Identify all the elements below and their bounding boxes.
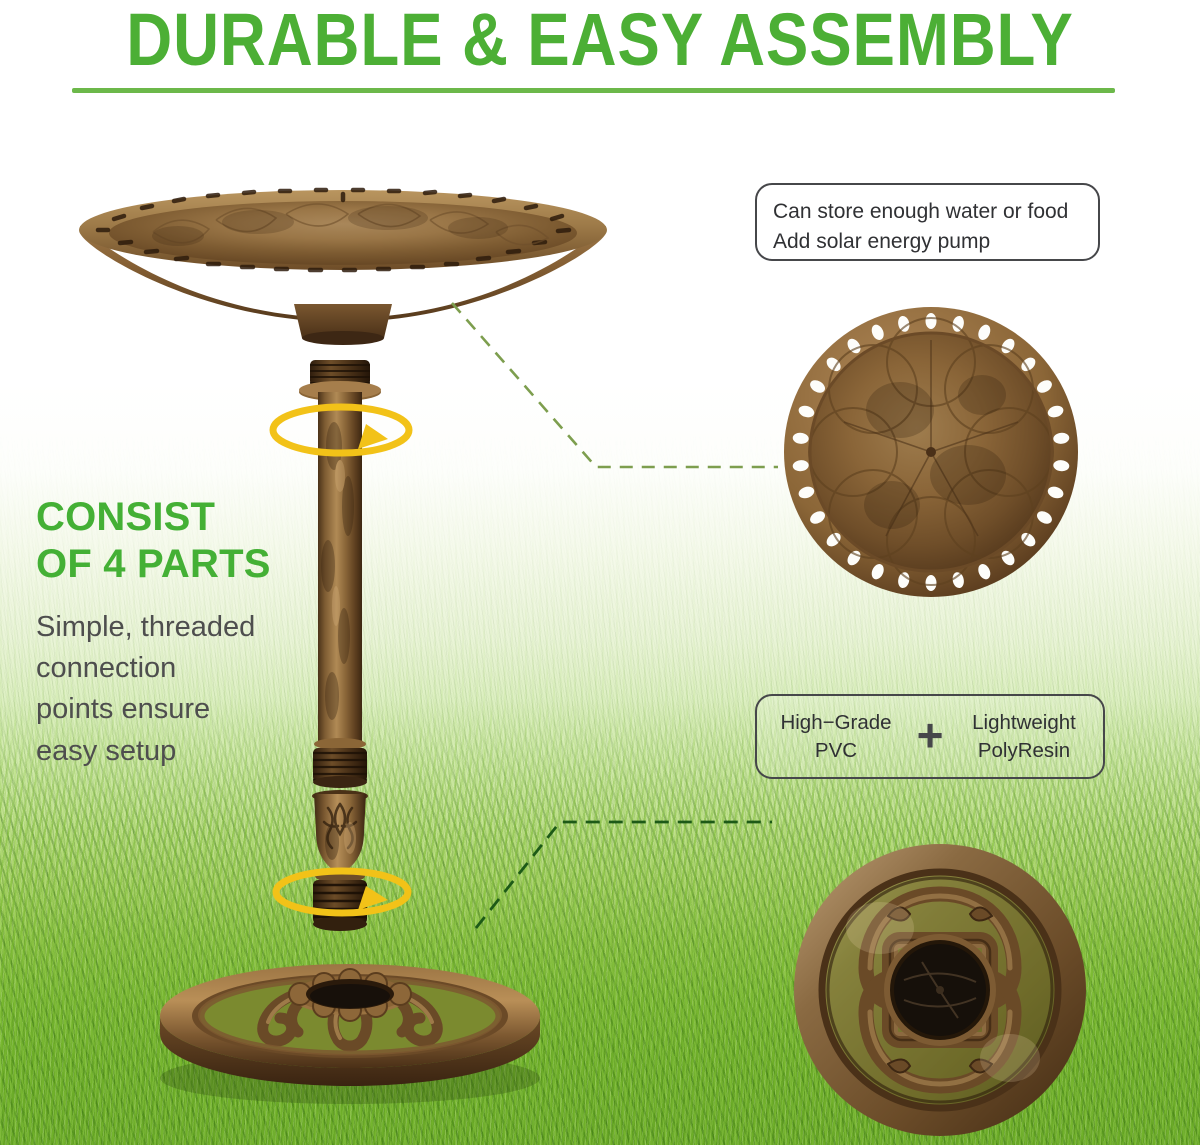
consist-body-line3: points ensure — [36, 689, 326, 730]
callout-materials: High−Grade PVC + Lightweight PolyResin — [755, 694, 1105, 779]
consist-heading: CONSIST OF 4 PARTS — [36, 494, 366, 588]
title-divider — [72, 88, 1115, 93]
pedestal-base-perspective — [152, 938, 548, 1106]
page-title: DURABLE & EASY ASSEMBLY — [84, 0, 1116, 80]
material-left-line1: High−Grade — [770, 709, 902, 736]
consist-heading-line1: CONSIST — [36, 494, 366, 541]
callout-water-line2: Add solar energy pump — [773, 227, 1098, 257]
material-right: Lightweight PolyResin — [958, 709, 1090, 764]
callout-water-line1: Can store enough water or food — [773, 197, 1098, 227]
base-top-view-detail — [792, 842, 1088, 1138]
callout-water-storage: Can store enough water or food Add solar… — [755, 183, 1100, 261]
consist-body-line1: Simple, threaded — [36, 607, 326, 648]
material-right-line2: PolyResin — [958, 737, 1090, 764]
material-right-line1: Lightweight — [958, 709, 1090, 736]
bowl-top-view-detail — [782, 300, 1080, 600]
rotation-arrow-upper-icon — [262, 392, 420, 470]
consist-body-line2: connection — [36, 648, 326, 689]
consist-heading-line2: OF 4 PARTS — [36, 541, 366, 588]
plus-icon: + — [902, 712, 958, 762]
rotation-arrow-lower-icon — [264, 858, 420, 930]
consist-body-text: Simple, threaded connection points ensur… — [36, 607, 326, 772]
bird-bath-bowl-side-view — [58, 186, 628, 346]
material-left-line2: PVC — [770, 737, 902, 764]
infographic-page: DURABLE & EASY ASSEMBLY — [0, 0, 1200, 1145]
material-left: High−Grade PVC — [770, 709, 902, 764]
consist-body-line4: easy setup — [36, 731, 326, 772]
